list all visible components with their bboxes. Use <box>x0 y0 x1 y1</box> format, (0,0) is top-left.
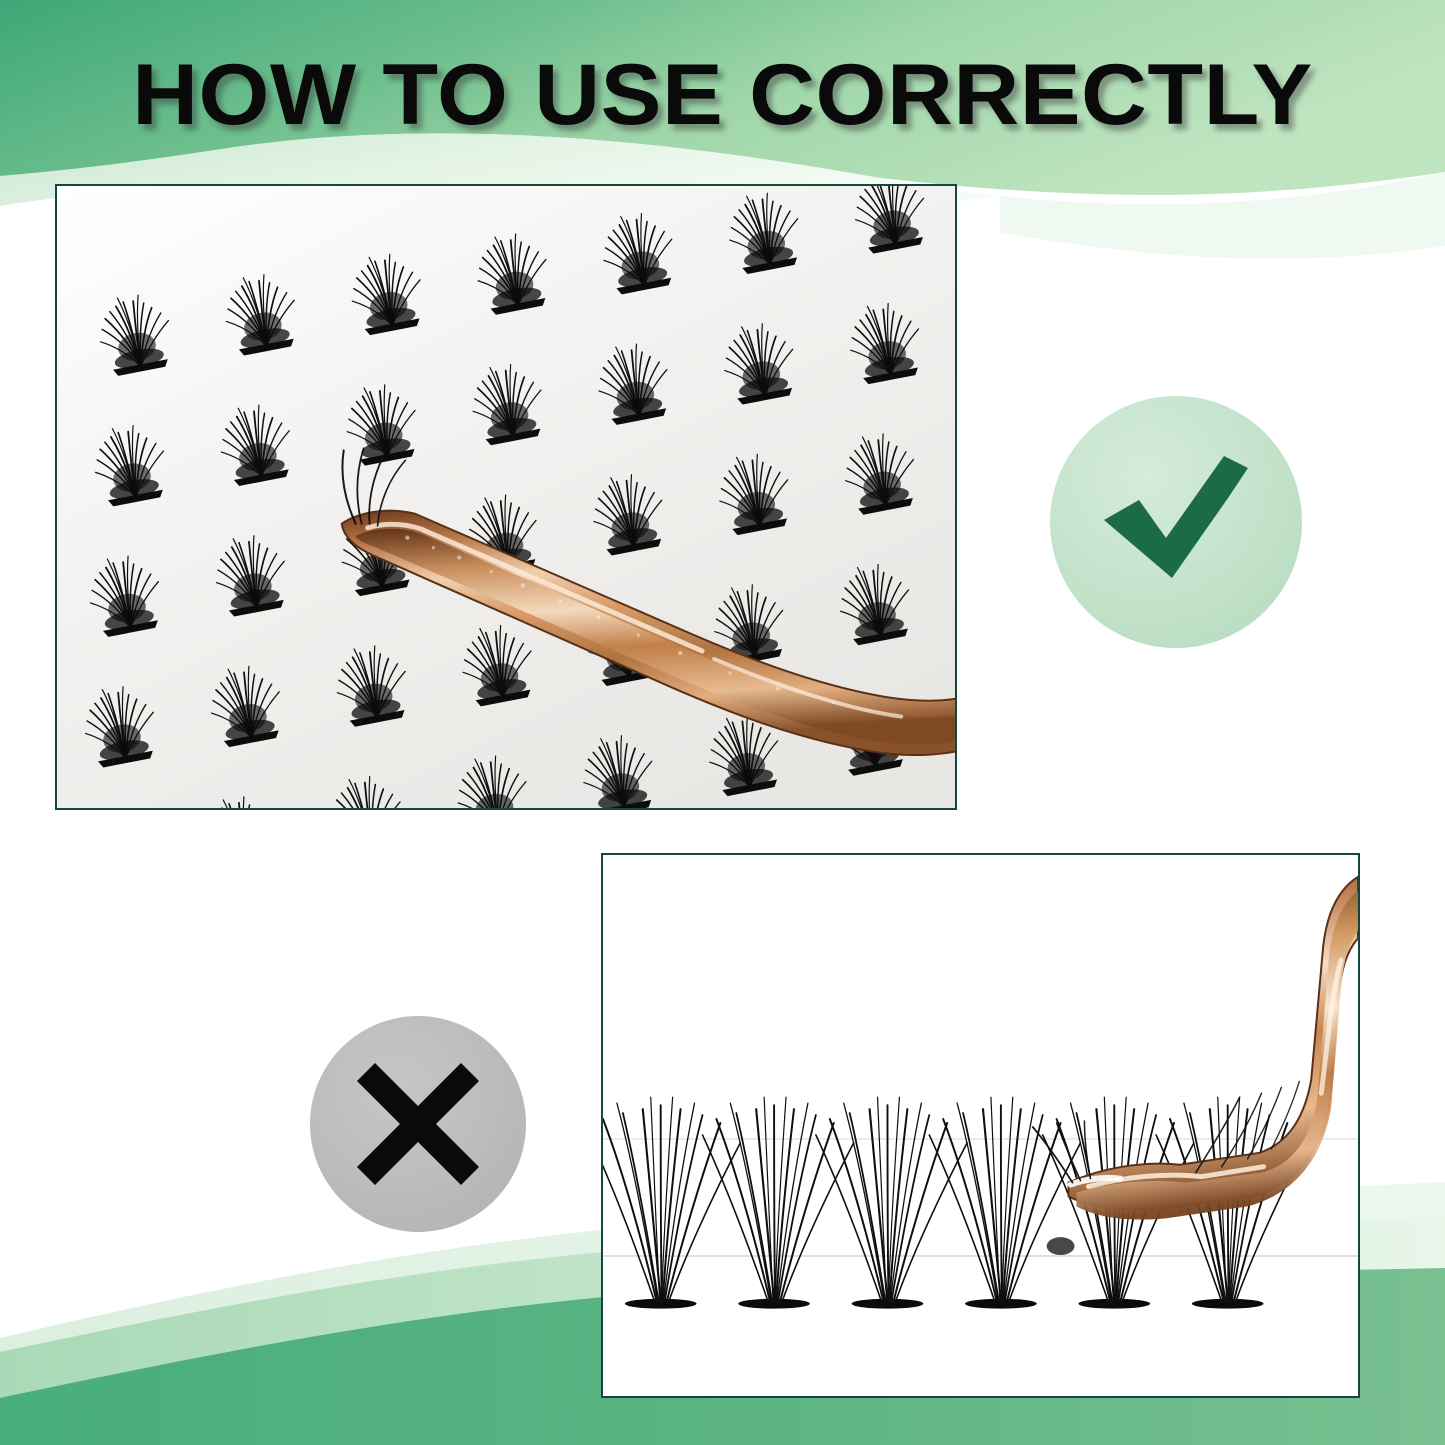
check-badge <box>1050 396 1302 648</box>
infographic-canvas: HOW TO USE CORRECTLY <box>0 0 1445 1445</box>
cross-badge <box>310 1016 526 1232</box>
check-icon <box>1092 438 1260 606</box>
lash-tray-tweezer-correct-photo <box>55 184 957 810</box>
lash-row-tweezer-incorrect-photo <box>601 853 1360 1398</box>
cross-icon <box>351 1057 485 1191</box>
page-title: HOW TO USE CORRECTLY <box>0 52 1445 138</box>
